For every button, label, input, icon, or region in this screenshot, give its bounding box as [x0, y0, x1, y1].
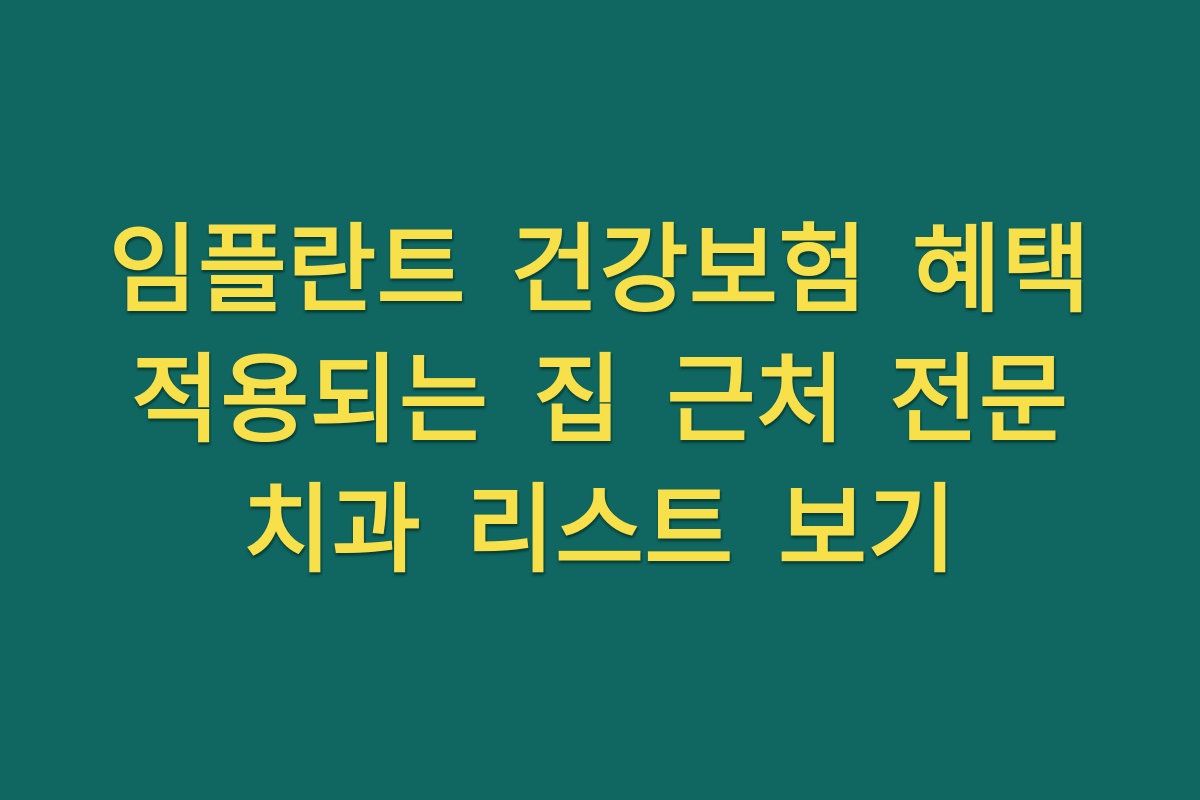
headline-line-1: 임플란트 건강보험 혜택	[20, 205, 1180, 335]
banner-canvas: 임플란트 건강보험 혜택 적용되는 집 근처 전문 치과 리스트 보기	[0, 0, 1200, 800]
headline-line-3: 치과 리스트 보기	[20, 465, 1180, 595]
headline-line-2: 적용되는 집 근처 전문	[20, 335, 1180, 465]
headline-text-block: 임플란트 건강보험 혜택 적용되는 집 근처 전문 치과 리스트 보기	[20, 205, 1180, 595]
